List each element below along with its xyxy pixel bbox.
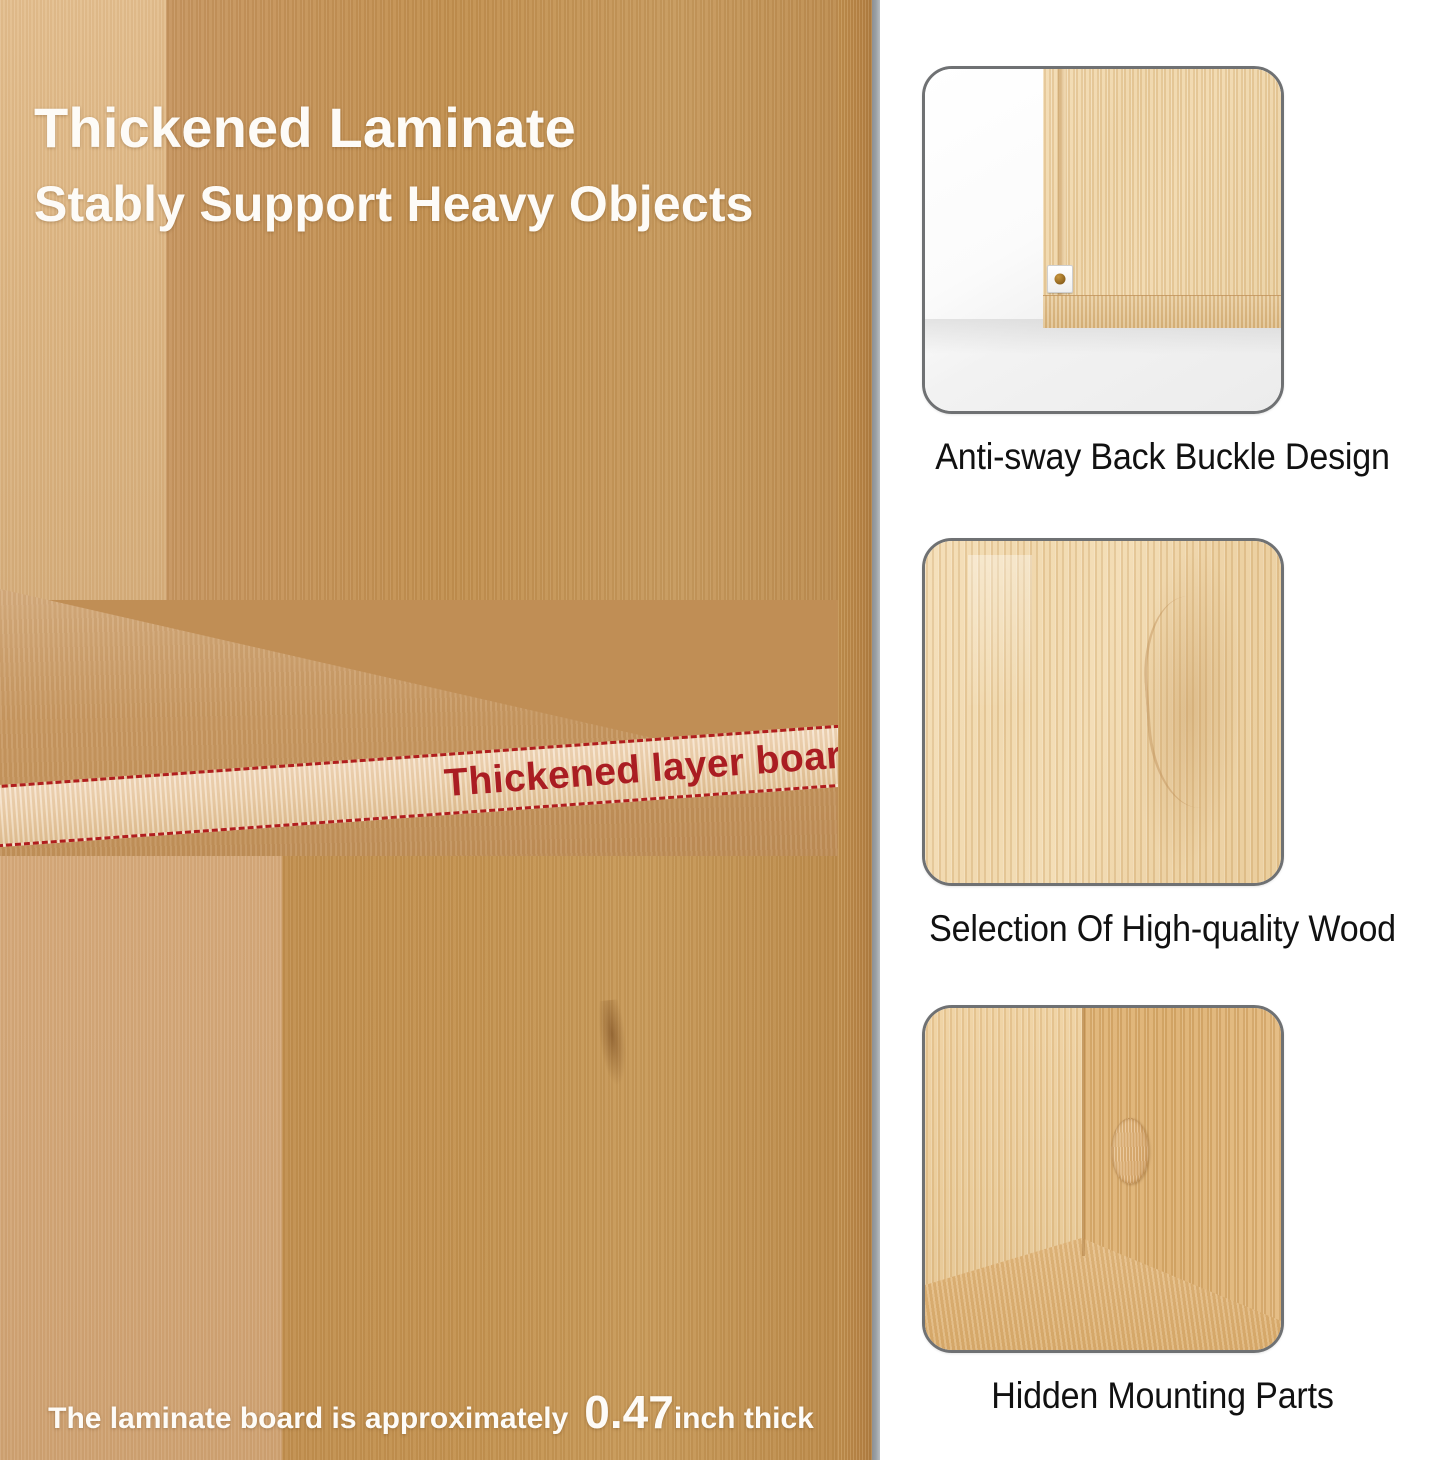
interior-corner-seam (1082, 1008, 1085, 1256)
caption-prefix-text: The laminate board is approximately (48, 1402, 568, 1436)
cabinet-left-panel-lower (0, 846, 282, 1460)
product-feature-panel: Thickened layer board Thickened Laminate… (0, 0, 1445, 1460)
feature-thumbnail-1 (922, 66, 1284, 414)
feature-label-3: Hidden Mounting Parts (903, 1375, 1423, 1417)
caption-thickness-value: 0.47 (584, 1385, 674, 1439)
cabinet-left-panel-upper (0, 0, 166, 600)
feature-label-1: Anti-sway Back Buckle Design (903, 436, 1423, 478)
wood-grain-figure-c (968, 555, 1032, 705)
cabinet-back-panel-upper (166, 0, 880, 600)
feature-thumbnail-3 (922, 1005, 1284, 1353)
cam-lock-cover-plug-icon (1111, 1118, 1149, 1184)
feature-high-quality-wood: Selection Of High-quality Wood (880, 538, 1445, 950)
feature-anti-sway-back-buckle: Anti-sway Back Buckle Design (880, 66, 1445, 478)
hero-title: Thickened Laminate (34, 95, 576, 160)
hero-photo-shelf-closeup: Thickened layer board Thickened Laminate… (0, 0, 880, 1460)
caption-suffix-text: inch thick (674, 1402, 814, 1436)
hero-subtitle: Stably Support Heavy Objects (34, 175, 754, 233)
anti-sway-bracket-icon (1047, 265, 1073, 293)
cabinet-back-wood-panel (1043, 69, 1281, 307)
hero-right-divider (872, 0, 880, 1460)
panel-bottom-edge (1043, 295, 1281, 328)
feature-label-2: Selection Of High-quality Wood (903, 908, 1423, 950)
feature-card-column: Anti-sway Back Buckle Design Selection O… (880, 0, 1445, 1460)
cabinet-back-panel-lower (282, 846, 838, 1460)
wall-floor-shadow (925, 319, 1281, 411)
feature-hidden-mounting-parts: Hidden Mounting Parts (880, 1005, 1445, 1417)
laminate-thickness-caption: The laminate board is approximately 0.47… (0, 1385, 862, 1439)
feature-thumbnail-2 (922, 538, 1284, 886)
screw-head-icon (1055, 274, 1066, 285)
